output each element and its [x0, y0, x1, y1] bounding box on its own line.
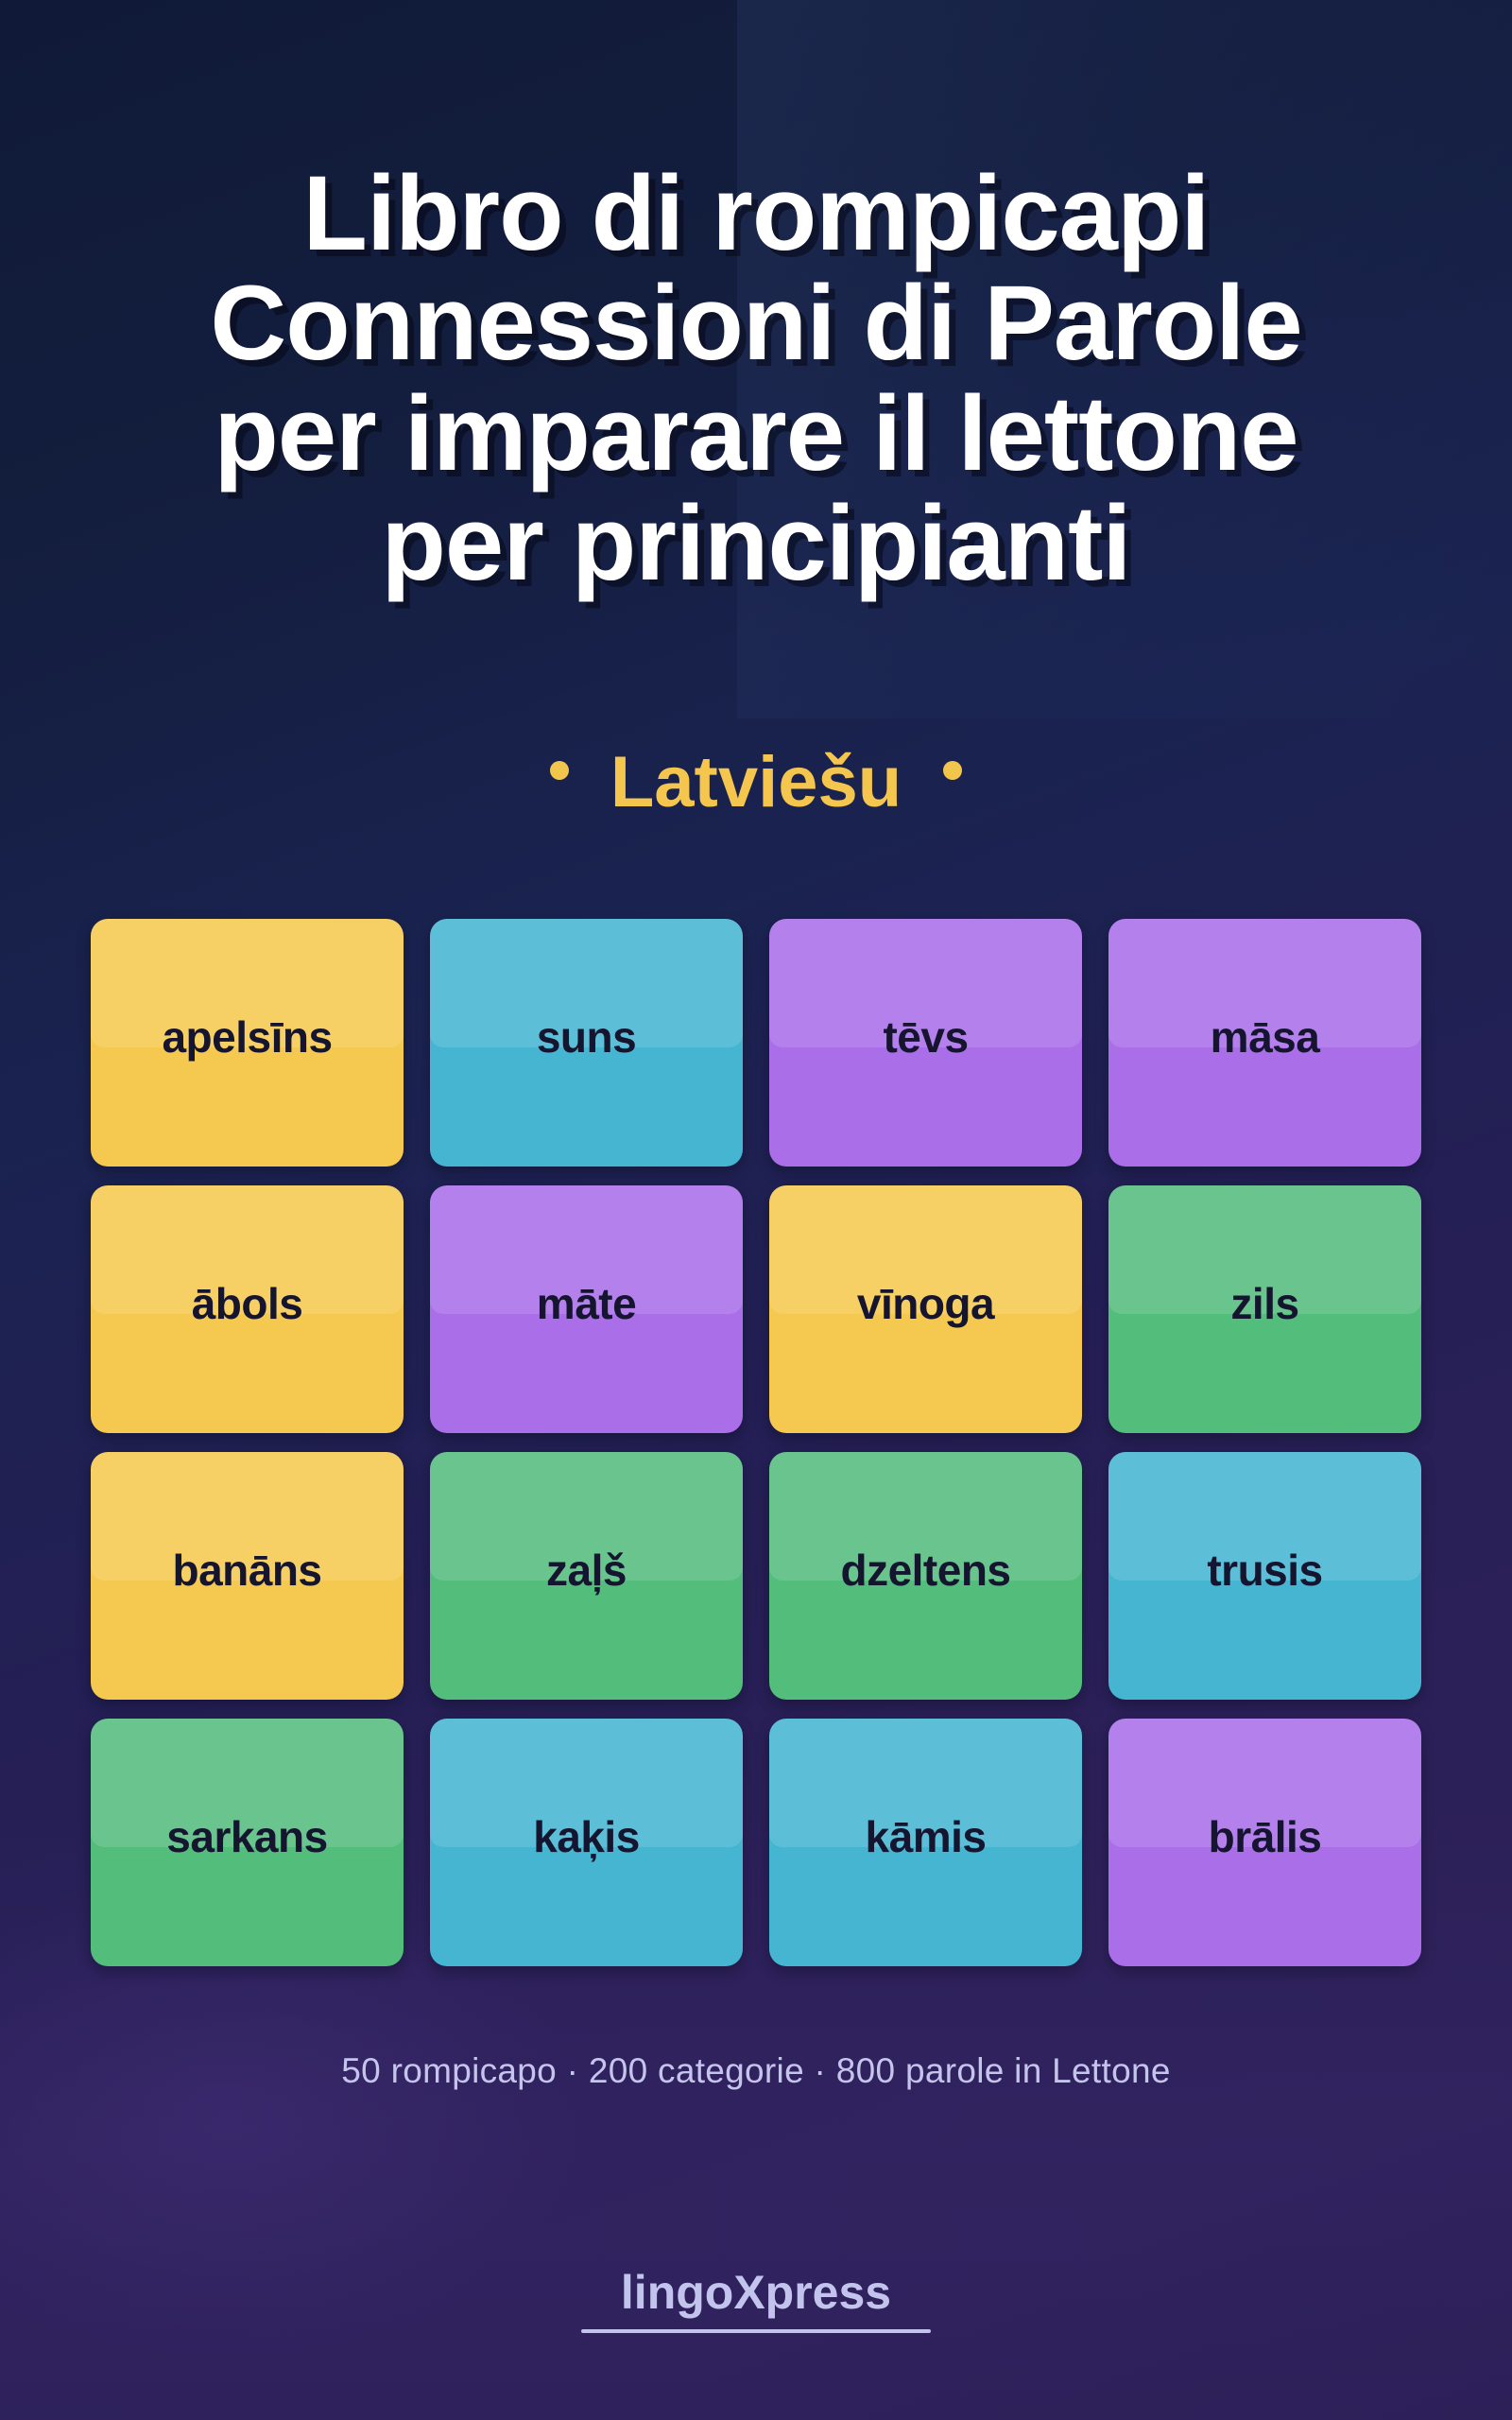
word-tile[interactable]: zaļš [430, 1452, 743, 1700]
word-tile[interactable]: banāns [91, 1452, 404, 1700]
word-tile[interactable]: vīnoga [769, 1185, 1082, 1433]
word-tile[interactable]: trusis [1108, 1452, 1421, 1700]
word-tile-label: kāmis [866, 1815, 987, 1858]
cover-title: Libro di rompicapi Connessioni di Parole… [0, 159, 1512, 599]
title-line-2: Connessioni di Parole [57, 268, 1455, 378]
word-tile[interactable]: sarkans [91, 1719, 404, 1966]
brand-name: lingoXpress [621, 2269, 891, 2316]
word-tile-label: banāns [172, 1548, 321, 1592]
word-tile[interactable]: suns [430, 919, 743, 1167]
word-tile-label: vīnoga [857, 1282, 994, 1325]
brand-underline [581, 2329, 931, 2333]
stats-line: 50 rompicapo · 200 categorie · 800 parol… [0, 2051, 1512, 2091]
word-tile[interactable]: dzeltens [769, 1452, 1082, 1700]
dot-decoration-left-icon [550, 761, 569, 780]
word-tile[interactable]: zils [1108, 1185, 1421, 1433]
word-tile-grid: apelsīnssunstēvsmāsaābolsmātevīnogazilsb… [91, 919, 1421, 1966]
word-tile[interactable]: ābols [91, 1185, 404, 1433]
word-tile[interactable]: māsa [1108, 919, 1421, 1167]
word-tile[interactable]: kaķis [430, 1719, 743, 1966]
title-line-4: per principianti [57, 489, 1455, 598]
word-tile[interactable]: apelsīns [91, 919, 404, 1167]
language-label-row: Latviešu [0, 747, 1512, 819]
language-name: Latviešu [610, 747, 902, 819]
title-line-1: Libro di rompicapi [57, 159, 1455, 268]
brand-block: lingoXpress [0, 2269, 1512, 2333]
word-tile-label: zils [1230, 1282, 1298, 1325]
word-tile-label: trusis [1207, 1548, 1322, 1592]
book-cover: Libro di rompicapi Connessioni di Parole… [0, 0, 1512, 2420]
dot-decoration-right-icon [943, 761, 962, 780]
word-tile-label: apelsīns [162, 1015, 332, 1059]
word-tile-label: suns [537, 1015, 636, 1059]
word-tile-label: tēvs [883, 1015, 968, 1059]
word-tile[interactable]: tēvs [769, 919, 1082, 1167]
word-tile-label: sarkans [166, 1815, 327, 1858]
word-tile-label: māte [537, 1282, 636, 1325]
word-tile-label: ābols [192, 1282, 303, 1325]
word-tile-label: kaķis [533, 1815, 640, 1858]
word-tile[interactable]: kāmis [769, 1719, 1082, 1966]
word-tile-label: zaļš [546, 1548, 627, 1592]
word-tile-label: brālis [1209, 1815, 1322, 1858]
word-tile[interactable]: māte [430, 1185, 743, 1433]
title-line-3: per imparare il lettone [57, 379, 1455, 489]
word-tile-label: māsa [1211, 1015, 1320, 1059]
word-tile-label: dzeltens [840, 1548, 1010, 1592]
word-tile[interactable]: brālis [1108, 1719, 1421, 1966]
